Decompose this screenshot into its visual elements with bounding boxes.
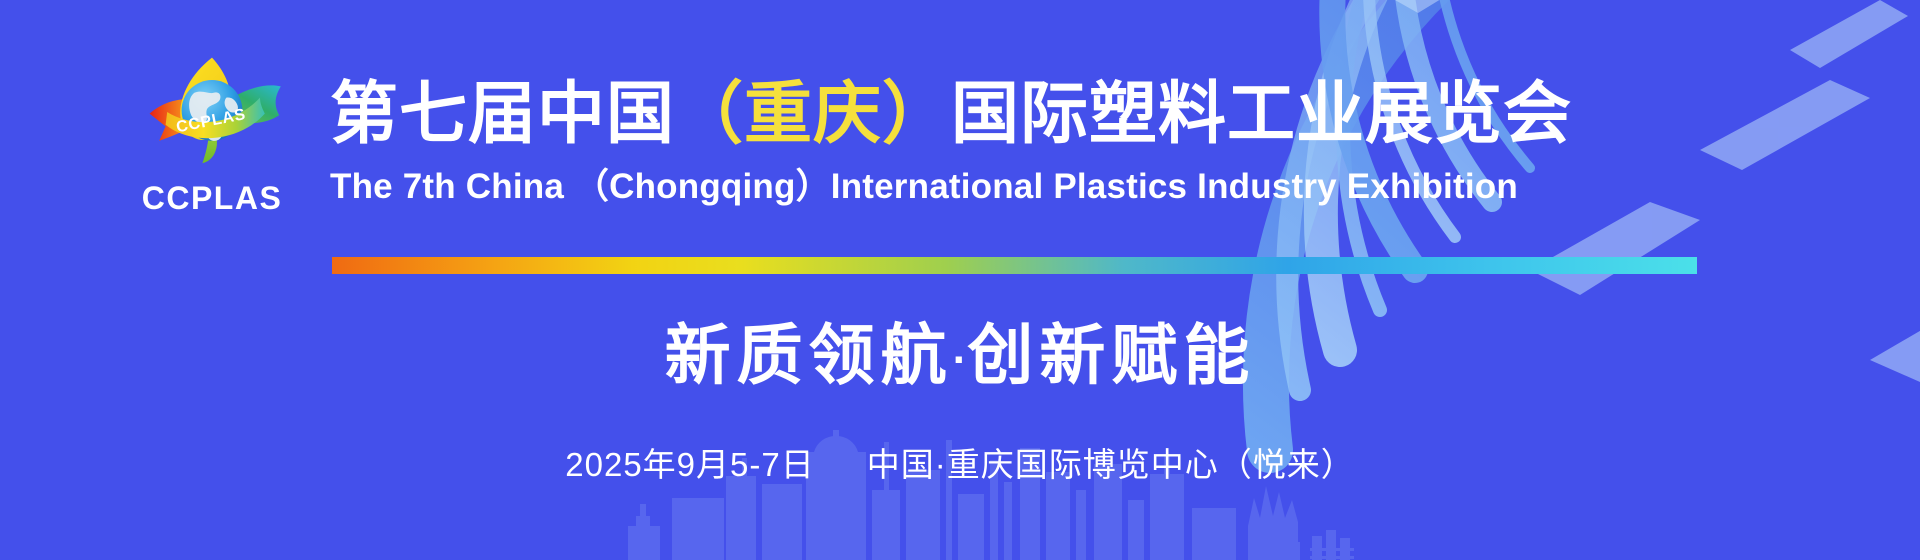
event-venue: 中国·重庆国际博览中心（悦来）	[867, 446, 1355, 483]
page-title: 第七届中国（重庆）国际塑料工业展览会	[330, 78, 1730, 150]
title-cn-part2: 国际塑料工业展览会	[951, 76, 1572, 152]
exhibition-banner: CCPLAS CCPLAS 第七届中国（重庆）国际塑料工业展览会 The 7th…	[0, 0, 1920, 560]
slogan-right: 创新赋能	[967, 318, 1255, 392]
gradient-rule	[332, 257, 1697, 274]
page-subtitle: The 7th China （Chongqing）International P…	[330, 158, 1730, 209]
title-cn-highlight: （重庆）	[675, 76, 951, 152]
logo-block: CCPLAS CCPLAS	[128, 48, 296, 226]
slogan: 新质领航·创新赋能	[0, 318, 1920, 394]
slogan-left: 新质领航	[665, 318, 953, 392]
logo-wordmark: CCPLAS	[142, 182, 283, 214]
header-text-block: 第七届中国（重庆）国际塑料工业展览会 The 7th China （Chongq…	[330, 78, 1730, 209]
ccplas-leaf-globe-logo: CCPLAS	[132, 48, 292, 176]
event-meta: 2025年9月5-7日中国·重庆国际博览中心（悦来）	[0, 438, 1920, 486]
event-date: 2025年9月5-7日	[565, 446, 814, 483]
title-cn-part1: 第七届中国	[330, 76, 675, 152]
slogan-separator: ·	[953, 335, 968, 384]
